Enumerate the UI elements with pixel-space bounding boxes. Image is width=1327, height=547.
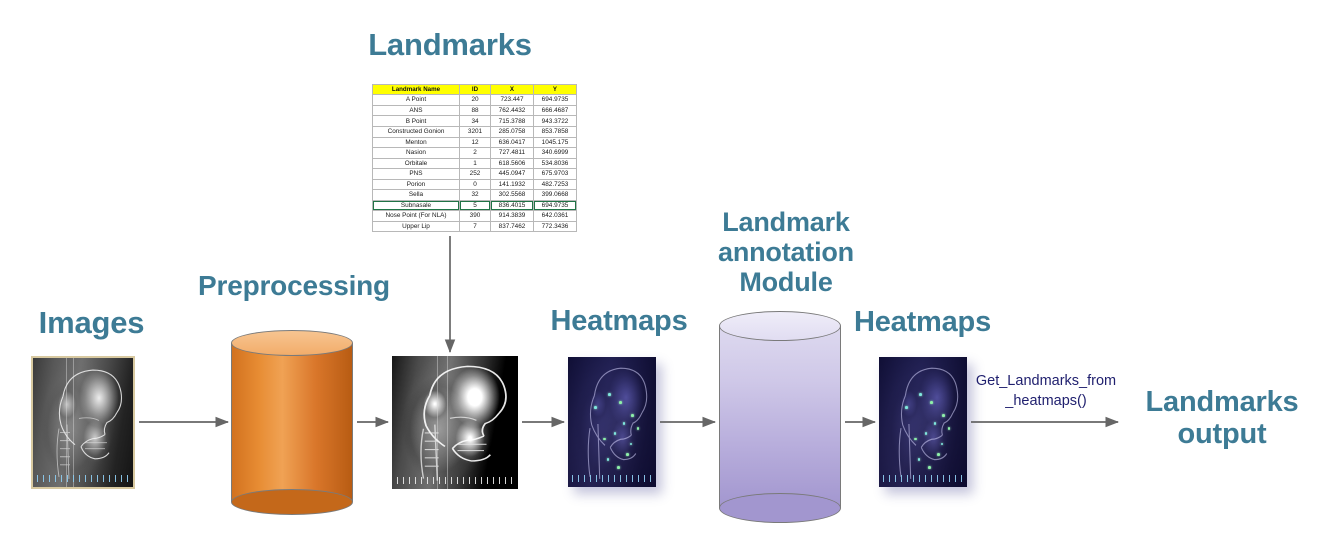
get-landmarks-function-label: Get_Landmarks_from _heatmaps() xyxy=(963,372,1129,411)
connector-arrows xyxy=(0,0,1327,547)
pipeline-diagram: Landmarks Images Preprocessing Heatmaps … xyxy=(0,0,1327,547)
